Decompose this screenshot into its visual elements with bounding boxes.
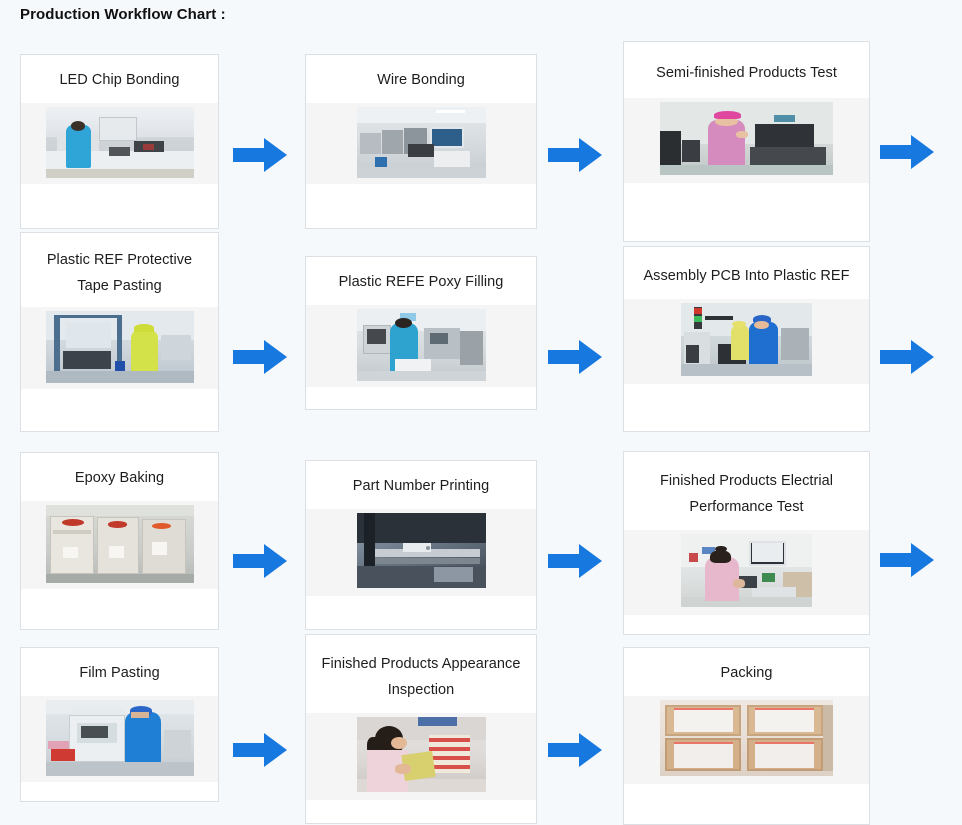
step-title: Part Number Printing	[306, 461, 536, 509]
page-title: Production Workflow Chart :	[20, 4, 226, 26]
finished-products-electrial-performance-test-photo	[681, 534, 812, 607]
film-pasting-photo	[46, 700, 194, 776]
step-title: Film Pasting	[21, 648, 218, 696]
step-photo-band	[624, 98, 869, 183]
workflow-step-wire-bonding[interactable]: Wire Bonding	[305, 54, 537, 229]
step-photo-band	[21, 696, 218, 782]
arrow-right-icon	[880, 132, 936, 172]
flow-arrow	[880, 132, 936, 172]
step-title: Semi-finished Products Test	[624, 42, 869, 98]
arrow-right-icon	[233, 337, 289, 377]
finished-products-appearance-inspection-photo	[357, 717, 486, 792]
step-photo-band	[21, 307, 218, 389]
workflow-step-part-number-printing[interactable]: Part Number Printing	[305, 460, 537, 630]
flow-arrow	[233, 135, 289, 175]
flow-arrow	[548, 730, 604, 770]
flow-arrow	[233, 337, 289, 377]
step-photo-band	[306, 713, 536, 800]
arrow-right-icon	[548, 337, 604, 377]
assembly-pcb-into-plastic-ref-photo	[681, 303, 812, 376]
step-photo-band	[306, 509, 536, 596]
flow-arrow	[233, 730, 289, 770]
step-title: Epoxy Baking	[21, 453, 218, 501]
workflow-step-packing[interactable]: Packing	[623, 647, 870, 825]
step-title: Assembly PCB Into Plastic REF	[624, 247, 869, 299]
flow-arrow	[880, 337, 936, 377]
step-photo-band	[306, 305, 536, 387]
arrow-right-icon	[548, 135, 604, 175]
step-photo-band	[624, 299, 869, 384]
epoxy-baking-photo	[46, 505, 194, 583]
flow-arrow	[233, 541, 289, 581]
workflow-step-finished-products-electrial-performance-test[interactable]: Finished Products Electrial Performance …	[623, 451, 870, 635]
workflow-step-epoxy-baking[interactable]: Epoxy Baking	[20, 452, 219, 630]
step-photo-band	[624, 530, 869, 615]
workflow-step-plastic-ref-protective-tape-pasting[interactable]: Plastic REF Protective Tape Pasting	[20, 232, 219, 432]
step-title: LED Chip Bonding	[21, 55, 218, 103]
step-title: Plastic REFE Poxy Filling	[306, 257, 536, 305]
wire-bonding-photo	[357, 107, 486, 178]
flow-arrow	[548, 337, 604, 377]
step-photo-band	[306, 103, 536, 184]
step-title: Packing	[624, 648, 869, 696]
arrow-right-icon	[233, 135, 289, 175]
workflow-grid: LED Chip Bonding Wire Bonding	[0, 32, 962, 824]
packing-photo	[660, 700, 833, 776]
flow-arrow	[548, 541, 604, 581]
flow-arrow	[880, 540, 936, 580]
arrow-right-icon	[233, 730, 289, 770]
workflow-step-semi-finished-products-test[interactable]: Semi-finished Products Test	[623, 41, 870, 242]
step-photo-band	[21, 103, 218, 184]
step-title: Finished Products Appearance Inspection	[306, 635, 536, 713]
workflow-step-led-chip-bonding[interactable]: LED Chip Bonding	[20, 54, 219, 229]
plastic-refe-poxy-filling-photo	[357, 309, 486, 381]
step-title: Plastic REF Protective Tape Pasting	[21, 233, 218, 307]
workflow-step-finished-products-appearance-inspection[interactable]: Finished Products Appearance Inspection	[305, 634, 537, 824]
step-photo-band	[624, 696, 869, 784]
workflow-step-plastic-refe-poxy-filling[interactable]: Plastic REFE Poxy Filling	[305, 256, 537, 410]
workflow-step-film-pasting[interactable]: Film Pasting	[20, 647, 219, 802]
step-title: Wire Bonding	[306, 55, 536, 103]
arrow-right-icon	[880, 540, 936, 580]
arrow-right-icon	[880, 337, 936, 377]
semi-finished-products-test-photo	[660, 102, 833, 175]
led-chip-bonding-photo	[46, 107, 194, 178]
workflow-step-assembly-pcb-into-plastic-ref[interactable]: Assembly PCB Into Plastic REF	[623, 246, 870, 432]
arrow-right-icon	[233, 541, 289, 581]
plastic-ref-protective-tape-pasting-photo	[46, 311, 194, 383]
flow-arrow	[548, 135, 604, 175]
step-title: Finished Products Electrial Performance …	[624, 452, 869, 530]
arrow-right-icon	[548, 730, 604, 770]
part-number-printing-photo	[357, 513, 486, 588]
arrow-right-icon	[548, 541, 604, 581]
step-photo-band	[21, 501, 218, 589]
